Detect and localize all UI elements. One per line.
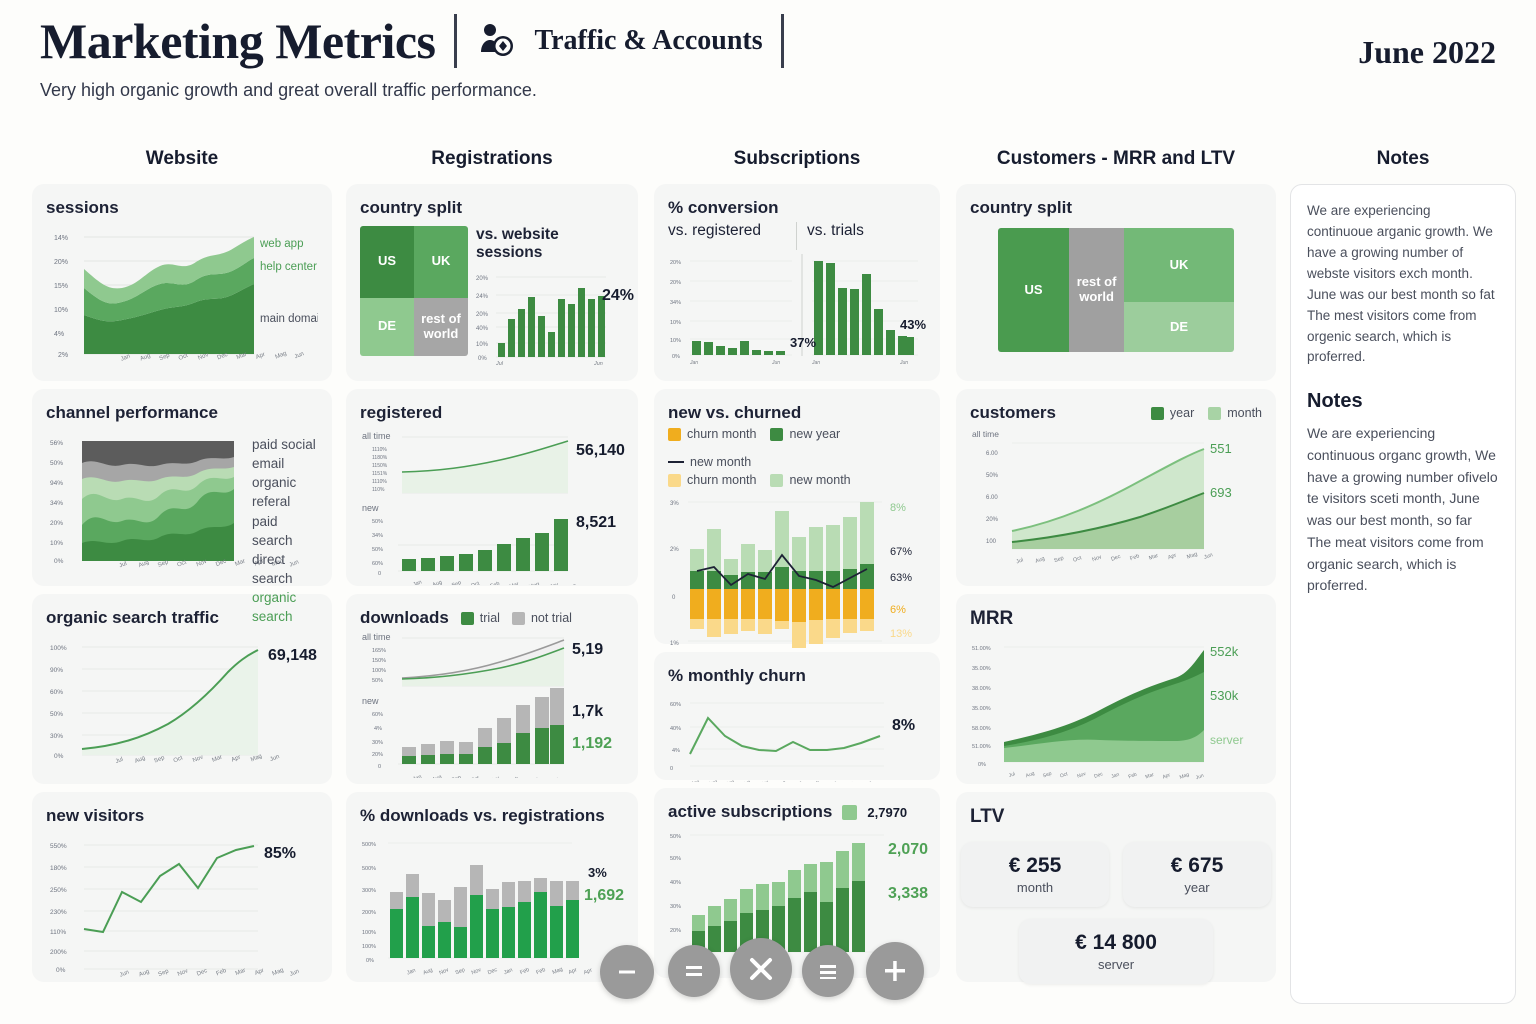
card-new-vs-churned: new vs. churned churn month new year new… bbox=[654, 389, 940, 644]
svg-text:50%: 50% bbox=[50, 460, 63, 467]
svg-text:Aug: Aug bbox=[1025, 770, 1036, 779]
channel-label-organic-search: organic search bbox=[252, 588, 318, 626]
svg-text:Nov: Nov bbox=[438, 967, 450, 976]
svg-text:300%: 300% bbox=[362, 888, 376, 894]
legend-swatch-new-year bbox=[770, 428, 783, 441]
treemap-cell-row: rest of world bbox=[1069, 228, 1124, 352]
svg-text:56%: 56% bbox=[50, 440, 63, 447]
toolbar-plus-button[interactable] bbox=[866, 942, 924, 1000]
legend-new-month-line: new month bbox=[668, 455, 751, 469]
legend-swatch-new-month bbox=[770, 474, 783, 487]
legend-trial: trial bbox=[461, 611, 500, 625]
toolbar-menu-button-1[interactable] bbox=[668, 945, 720, 997]
svg-text:1151%: 1151% bbox=[372, 471, 388, 477]
svg-text:Nov: Nov bbox=[1091, 554, 1102, 563]
card-sessions: sessions 14%20%15% 10%4%2% JanAugSep Oct… bbox=[32, 184, 332, 381]
svg-text:Jul: Jul bbox=[115, 757, 124, 765]
menu-icon bbox=[682, 959, 706, 983]
svg-text:Mag: Mag bbox=[1186, 551, 1198, 560]
svg-text:Mar: Mar bbox=[509, 581, 520, 585]
channel-label-email: email bbox=[252, 454, 318, 473]
card-title-pct-downloads: % downloads vs. registrations bbox=[360, 806, 624, 826]
svg-text:34%: 34% bbox=[372, 533, 383, 539]
svg-text:May: May bbox=[547, 776, 559, 778]
chart-mrr: 51.00%35.00%38.00% 35.00%58.00%51.00%0% … bbox=[970, 634, 1262, 780]
mrr-value-bottom: server bbox=[1210, 733, 1243, 747]
svg-text:1150%: 1150% bbox=[372, 463, 388, 469]
visitors-value: 85% bbox=[264, 845, 296, 863]
column-registrations: Registrations country split US UK DE res… bbox=[346, 148, 638, 982]
active-subs-dark-value: 3,338 bbox=[888, 885, 928, 903]
legend-new-year: new year bbox=[770, 427, 840, 441]
svg-text:Jan: Jan bbox=[689, 360, 698, 366]
svg-text:Nov: Nov bbox=[1076, 771, 1087, 780]
card-reg-country-split: country split US UK DE rest of world vs.… bbox=[346, 184, 638, 381]
active-subs-legend-value: 2,7970 bbox=[867, 805, 907, 820]
card-conversion: % conversion vs. registered vs. trials 2… bbox=[654, 184, 940, 381]
accounts-icon bbox=[475, 22, 517, 60]
svg-text:Jun: Jun bbox=[289, 969, 300, 978]
svg-text:50%: 50% bbox=[372, 547, 383, 553]
ltv-server-value: € 14 800 bbox=[1041, 931, 1191, 955]
legend-label-not-trial: not trial bbox=[531, 611, 572, 625]
svg-text:10%: 10% bbox=[476, 342, 489, 348]
channel-label-paid-social: paid social bbox=[252, 435, 318, 454]
treemap-cell-us: US bbox=[360, 226, 414, 298]
card-ltv: LTV € 255 month € 675 year € 14 800 serv… bbox=[956, 792, 1276, 982]
svg-text:Feb: Feb bbox=[535, 967, 546, 976]
nc-label-0: 8% bbox=[890, 502, 906, 514]
svg-text:Oct: Oct bbox=[470, 775, 481, 778]
svg-text:1110%: 1110% bbox=[372, 447, 387, 453]
section-divider bbox=[781, 14, 784, 68]
legend-swatch-churn-month-1 bbox=[668, 428, 681, 441]
svg-text:14%: 14% bbox=[54, 235, 68, 242]
card-channel-performance: channel performance 56%50%94% 34%20%10%0… bbox=[32, 389, 332, 586]
close-icon bbox=[746, 954, 776, 984]
ltv-month-label: month bbox=[983, 880, 1087, 895]
column-title-subscriptions: Subscriptions bbox=[654, 148, 940, 172]
svg-text:Jan: Jan bbox=[120, 353, 131, 362]
svg-text:20%: 20% bbox=[54, 259, 68, 266]
svg-text:550%: 550% bbox=[50, 843, 67, 850]
customers-value-month: 551 bbox=[1210, 441, 1232, 456]
svg-text:10%: 10% bbox=[670, 320, 681, 326]
svg-text:Aug: Aug bbox=[422, 967, 433, 976]
svg-text:Apr: Apr bbox=[845, 780, 855, 782]
column-title-customers: Customers - MRR and LTV bbox=[956, 148, 1276, 172]
svg-text:200%: 200% bbox=[362, 910, 376, 916]
svg-text:Jun: Jun bbox=[593, 361, 603, 366]
svg-text:0%: 0% bbox=[56, 967, 66, 974]
column-customers: Customers - MRR and LTV country split US… bbox=[956, 148, 1276, 982]
menu-icon bbox=[816, 959, 840, 983]
card-mrr: MRR 51.00%35.00%38.00% 35.00%58.00%51.00… bbox=[956, 594, 1276, 784]
toolbar-menu-button-2[interactable] bbox=[802, 945, 854, 997]
svg-text:500%: 500% bbox=[362, 842, 376, 848]
svg-text:94%: 94% bbox=[50, 480, 63, 487]
conversion-right-value: 43% bbox=[900, 317, 926, 332]
svg-text:30%: 30% bbox=[50, 733, 63, 740]
legend-not-trial: not trial bbox=[512, 611, 572, 625]
ltv-month-value: € 255 bbox=[983, 854, 1087, 878]
svg-text:10%: 10% bbox=[54, 307, 68, 314]
svg-text:Jan: Jan bbox=[691, 779, 701, 782]
nc-label-3: 6% bbox=[890, 604, 906, 616]
svg-text:Jun: Jun bbox=[1203, 552, 1213, 561]
toolbar-close-button[interactable] bbox=[730, 938, 792, 1000]
svg-text:20%: 20% bbox=[50, 520, 63, 527]
downloads-new-total: 1,7k bbox=[572, 703, 603, 721]
downloads-new-trial: 1,192 bbox=[572, 735, 612, 753]
new-churned-legend-row-2: churn month new month bbox=[668, 473, 926, 487]
svg-text:0%: 0% bbox=[54, 558, 64, 565]
svg-text:Jun: Jun bbox=[878, 781, 888, 782]
svg-text:250%: 250% bbox=[50, 887, 67, 894]
svg-text:0%: 0% bbox=[978, 762, 986, 768]
svg-text:0: 0 bbox=[378, 571, 381, 577]
svg-text:180%: 180% bbox=[50, 865, 67, 872]
card-title-new-churned: new vs. churned bbox=[668, 403, 926, 423]
svg-text:Mag: Mag bbox=[862, 780, 873, 782]
conversion-left-value: 37% bbox=[790, 335, 816, 350]
svg-text:May: May bbox=[547, 582, 559, 585]
legend-swatch-year bbox=[1151, 407, 1164, 420]
svg-text:34%: 34% bbox=[50, 500, 63, 507]
churn-value: 8% bbox=[892, 717, 915, 735]
svg-text:40%: 40% bbox=[670, 726, 681, 732]
column-notes: Notes We are experiencing continuoue arg… bbox=[1290, 148, 1516, 1004]
svg-text:100%: 100% bbox=[50, 645, 67, 652]
svg-text:35.00%: 35.00% bbox=[972, 666, 991, 672]
legend-swatch-churn-month-2 bbox=[668, 474, 681, 487]
svg-text:Jan: Jan bbox=[406, 968, 416, 977]
legend-label-new-month: new month bbox=[789, 473, 850, 487]
svg-text:20%: 20% bbox=[372, 752, 383, 758]
svg-text:0: 0 bbox=[670, 766, 673, 772]
channel-label-direct-search: direct search bbox=[252, 550, 318, 588]
svg-text:60%: 60% bbox=[50, 689, 63, 696]
svg-text:Apr: Apr bbox=[1162, 772, 1172, 780]
svg-text:0: 0 bbox=[672, 595, 676, 601]
notes-body-top: We are experiencing continuoue arganic g… bbox=[1307, 201, 1499, 368]
svg-text:20%: 20% bbox=[670, 928, 681, 934]
svg-text:230%: 230% bbox=[50, 909, 67, 916]
svg-text:Nov: Nov bbox=[489, 775, 500, 778]
card-pct-downloads: % downloads vs. registrations 500%500%30… bbox=[346, 792, 638, 982]
card-cust-country-split: country split US UK rest of world DE bbox=[956, 184, 1276, 381]
svg-text:0%: 0% bbox=[672, 354, 680, 360]
svg-text:Mar: Mar bbox=[234, 558, 246, 567]
chart-customers: all time 6.0050%6.00 20%100 JulAugSep Oc… bbox=[970, 423, 1262, 575]
svg-text:Aug: Aug bbox=[431, 774, 442, 778]
svg-text:Feb: Feb bbox=[810, 780, 820, 782]
legend-churn-month-1: churn month bbox=[668, 427, 756, 441]
svg-text:Oct: Oct bbox=[742, 779, 752, 782]
treemap-customers: US UK rest of world DE bbox=[998, 228, 1234, 352]
title-divider bbox=[454, 14, 457, 68]
conversion-sub-registered: vs. registered bbox=[668, 222, 786, 240]
svg-text:30%: 30% bbox=[372, 740, 383, 746]
chart-vs-website-sessions: 20%24%20% 40%10%0% bbox=[476, 266, 624, 366]
svg-text:Sep: Sep bbox=[451, 580, 462, 585]
svg-text:Jun: Jun bbox=[294, 351, 305, 360]
svg-text:Mag: Mag bbox=[1179, 772, 1190, 780]
svg-text:3%: 3% bbox=[670, 501, 679, 507]
svg-text:Jun: Jun bbox=[771, 360, 780, 366]
svg-text:Oct: Oct bbox=[1059, 771, 1069, 780]
legend-label-new-month-line: new month bbox=[690, 455, 751, 469]
svg-text:Jun: Jun bbox=[567, 583, 577, 585]
channel-label-organic-referal: organic referal bbox=[252, 473, 318, 511]
svg-text:0%: 0% bbox=[478, 356, 487, 362]
channel-legend: paid social email organic referal paid s… bbox=[252, 435, 318, 627]
toolbar-minus-button[interactable] bbox=[600, 945, 654, 999]
card-title-active-subs: active subscriptions bbox=[668, 802, 832, 822]
card-registered: registered all time 1110%1180%1150% 1151… bbox=[346, 389, 638, 586]
svg-text:Mag: Mag bbox=[528, 581, 540, 585]
svg-text:Nov: Nov bbox=[759, 779, 770, 782]
card-title-sessions: sessions bbox=[46, 198, 318, 218]
svg-text:Aug: Aug bbox=[432, 580, 443, 585]
svg-text:Dec: Dec bbox=[196, 968, 208, 978]
downloads-all-time-value: 5,19 bbox=[572, 641, 603, 659]
label-all-time: all time bbox=[362, 431, 391, 441]
new-churned-legend-row-1: churn month new year new month bbox=[668, 427, 926, 469]
card-title-customers: customers bbox=[970, 403, 1056, 423]
vs-sessions-value: 24% bbox=[602, 287, 634, 305]
pct-downloads-grey-value: 3% bbox=[588, 865, 607, 880]
svg-text:Feb: Feb bbox=[1129, 553, 1140, 562]
svg-text:Jan: Jan bbox=[811, 360, 820, 366]
card-title-visitors: new visitors bbox=[46, 806, 318, 826]
treemap-cell-de: DE bbox=[360, 298, 414, 357]
notes-panel: We are experiencing continuoue arganic g… bbox=[1290, 184, 1516, 1004]
svg-text:4%: 4% bbox=[374, 726, 382, 732]
column-title-website: Website bbox=[32, 148, 332, 172]
svg-text:200%: 200% bbox=[50, 949, 67, 956]
series-label-web-app: web app bbox=[259, 238, 303, 250]
chart-sessions: 14%20%15% 10%4%2% JanAugSep OctNovDec Ma… bbox=[46, 222, 318, 377]
svg-text:150%: 150% bbox=[372, 658, 386, 664]
svg-text:4%: 4% bbox=[672, 748, 680, 754]
svg-text:2%: 2% bbox=[58, 352, 68, 359]
svg-text:24%: 24% bbox=[476, 294, 489, 300]
series-label-help-center: help center bbox=[260, 261, 317, 273]
svg-text:Jan: Jan bbox=[503, 967, 513, 976]
page-subtitle: Very high organic growth and great overa… bbox=[40, 80, 1496, 101]
svg-text:Jun: Jun bbox=[269, 754, 280, 763]
pct-downloads-green-value: 1,692 bbox=[584, 887, 624, 905]
svg-text:Aug: Aug bbox=[708, 779, 719, 782]
svg-text:100%: 100% bbox=[362, 930, 376, 936]
svg-text:Jul: Jul bbox=[495, 361, 504, 366]
svg-text:20%: 20% bbox=[670, 280, 681, 286]
svg-text:20%: 20% bbox=[986, 517, 999, 523]
svg-text:Jan: Jan bbox=[793, 780, 803, 782]
svg-text:500%: 500% bbox=[362, 866, 376, 872]
conversion-sub-trials: vs. trials bbox=[807, 222, 864, 240]
svg-text:50%: 50% bbox=[670, 856, 681, 862]
treemap-registrations: US UK DE rest of world bbox=[360, 226, 468, 356]
card-title-downloads: downloads bbox=[360, 608, 449, 628]
report-date: June 2022 bbox=[1358, 34, 1496, 71]
svg-text:Dec: Dec bbox=[487, 967, 499, 976]
chart-conversion: 20%20%34% 10%10%0% bbox=[668, 250, 930, 370]
channel-label-paid-search: paid search bbox=[252, 512, 318, 550]
svg-text:Mag: Mag bbox=[552, 966, 564, 976]
svg-text:50%: 50% bbox=[372, 678, 383, 684]
treemap-cell-uk: UK bbox=[414, 226, 468, 298]
svg-text:50%: 50% bbox=[670, 834, 681, 840]
column-title-notes: Notes bbox=[1290, 148, 1516, 172]
svg-text:0%: 0% bbox=[54, 753, 64, 760]
svg-text:Mar: Mar bbox=[528, 776, 539, 778]
legend-churn-month-2: churn month bbox=[668, 473, 756, 487]
svg-text:Jun: Jun bbox=[899, 360, 908, 366]
treemap-cell-us: US bbox=[998, 228, 1069, 352]
chart-pct-downloads: 500%500%300% 200%100%100%0% JanAugNov bbox=[360, 830, 624, 980]
svg-text:Mag: Mag bbox=[272, 967, 285, 977]
svg-text:100: 100 bbox=[986, 539, 997, 545]
svg-text:30%: 30% bbox=[670, 904, 681, 910]
legend-swatch-trial bbox=[461, 612, 474, 625]
card-title-cust-country: country split bbox=[970, 198, 1262, 218]
treemap-cell-de: DE bbox=[1124, 302, 1234, 352]
legend-new-month: new month bbox=[770, 473, 850, 487]
svg-text:1110%: 1110% bbox=[372, 479, 387, 485]
ltv-card-server: € 14 800 server bbox=[1019, 919, 1213, 984]
legend-label-new-year: new year bbox=[789, 427, 840, 441]
ltv-server-label: server bbox=[1041, 957, 1191, 972]
card-title-conversion: % conversion bbox=[668, 198, 926, 218]
column-title-registrations: Registrations bbox=[346, 148, 638, 172]
svg-text:165%: 165% bbox=[372, 648, 386, 654]
svg-text:Oct: Oct bbox=[173, 755, 184, 764]
svg-text:Nov: Nov bbox=[471, 967, 483, 976]
svg-text:Jul: Jul bbox=[119, 561, 128, 569]
page-title: Marketing Metrics bbox=[40, 16, 436, 66]
svg-text:Sep: Sep bbox=[1042, 771, 1053, 780]
svg-text:40%: 40% bbox=[670, 880, 681, 886]
svg-text:Sep: Sep bbox=[451, 775, 462, 778]
svg-text:Feb: Feb bbox=[1128, 772, 1138, 780]
svg-text:20%: 20% bbox=[670, 260, 681, 266]
ltv-card-year: € 675 year bbox=[1123, 842, 1271, 907]
svg-text:15%: 15% bbox=[54, 283, 68, 290]
customers-value-year: 693 bbox=[1210, 485, 1232, 500]
label-new: new bbox=[362, 503, 379, 513]
svg-text:all time: all time bbox=[972, 429, 999, 439]
svg-text:1%: 1% bbox=[670, 641, 679, 647]
svg-text:Aug: Aug bbox=[138, 969, 150, 979]
chart-monthly-churn: 60%40%4%0 JanAugSep OctNovDec JanFebMar … bbox=[668, 690, 930, 782]
svg-text:Oct: Oct bbox=[1072, 555, 1083, 564]
svg-text:60%: 60% bbox=[372, 712, 383, 718]
ltv-year-value: € 675 bbox=[1145, 854, 1249, 878]
svg-text:Sep: Sep bbox=[455, 967, 466, 976]
svg-text:90%: 90% bbox=[50, 667, 63, 674]
notes-heading-second: Notes bbox=[1307, 390, 1499, 413]
legend-label-churn-month-2: churn month bbox=[687, 473, 756, 487]
svg-text:100%: 100% bbox=[362, 944, 376, 950]
svg-text:Mar: Mar bbox=[211, 754, 223, 763]
card-title-churn: % monthly churn bbox=[668, 666, 926, 686]
card-title-vs-sessions: vs. website sessions bbox=[476, 226, 624, 262]
notes-body-second: We are experiencing continuous organc gr… bbox=[1307, 423, 1499, 597]
registered-new-value: 8,521 bbox=[576, 514, 616, 532]
svg-text:40%: 40% bbox=[476, 326, 489, 332]
svg-text:6.00: 6.00 bbox=[986, 495, 998, 501]
svg-text:34%: 34% bbox=[670, 300, 681, 306]
ltv-kpi-row-2: € 14 800 server bbox=[970, 919, 1262, 984]
svg-text:Jan: Jan bbox=[1110, 772, 1120, 780]
svg-text:Apr: Apr bbox=[231, 755, 242, 764]
column-subscriptions: Subscriptions % conversion vs. registere… bbox=[654, 148, 940, 978]
legend-line-new-month bbox=[668, 461, 684, 463]
svg-text:Mag: Mag bbox=[274, 351, 287, 361]
svg-text:Aug: Aug bbox=[134, 755, 146, 765]
svg-text:Feb: Feb bbox=[519, 967, 530, 976]
svg-text:Jul: Jul bbox=[1015, 557, 1024, 565]
card-title-registered: registered bbox=[360, 403, 624, 423]
card-new-visitors: new visitors 550%180%250% 230%110%200%0%… bbox=[32, 792, 332, 982]
svg-text:Jan: Jan bbox=[412, 579, 422, 585]
svg-text:Jun: Jun bbox=[119, 969, 130, 978]
card-customers-chart: customers year month all time 6.0050%6.0… bbox=[956, 389, 1276, 586]
active-subs-light-value: 2,070 bbox=[888, 841, 928, 859]
svg-text:Sep: Sep bbox=[725, 779, 736, 782]
svg-text:4%: 4% bbox=[54, 331, 64, 338]
svg-text:51.00%: 51.00% bbox=[972, 744, 991, 750]
svg-text:110%: 110% bbox=[372, 487, 385, 493]
plus-icon bbox=[881, 957, 909, 985]
svg-text:Dec: Dec bbox=[776, 779, 787, 782]
svg-text:Apr: Apr bbox=[568, 967, 578, 976]
svg-text:20%: 20% bbox=[476, 276, 489, 282]
treemap-cell-row: rest of world bbox=[414, 298, 468, 357]
card-title-mrr: MRR bbox=[970, 608, 1262, 630]
svg-text:60%: 60% bbox=[372, 561, 383, 567]
conversion-divider bbox=[796, 222, 797, 250]
page-header: Marketing Metrics Traffic & Accounts Ver… bbox=[40, 14, 1496, 124]
svg-text:50%: 50% bbox=[50, 711, 63, 718]
svg-text:35.00%: 35.00% bbox=[972, 706, 991, 712]
legend-swatch-month bbox=[1208, 407, 1221, 420]
svg-text:2%: 2% bbox=[670, 547, 679, 553]
svg-text:50%: 50% bbox=[372, 519, 383, 525]
svg-text:10%: 10% bbox=[670, 338, 681, 344]
svg-text:20%: 20% bbox=[476, 312, 489, 318]
registered-all-time-value: 56,140 bbox=[576, 442, 625, 460]
svg-text:Dec: Dec bbox=[1110, 554, 1121, 563]
svg-text:Mar: Mar bbox=[1148, 553, 1159, 562]
ltv-card-month: € 255 month bbox=[961, 842, 1109, 907]
svg-text:38.00%: 38.00% bbox=[972, 686, 991, 692]
svg-text:110%: 110% bbox=[50, 929, 66, 936]
card-monthly-churn: % monthly churn 60%40%4%0 JanAugSep OctN… bbox=[654, 652, 940, 780]
legend-label-churn-month-1: churn month bbox=[687, 427, 756, 441]
svg-text:Jun: Jun bbox=[1195, 773, 1205, 780]
svg-text:Apr: Apr bbox=[255, 352, 266, 361]
card-title-reg-country: country split bbox=[360, 198, 624, 218]
minus-icon bbox=[614, 959, 640, 985]
card-downloads: downloads trial not trial all time 165%1… bbox=[346, 594, 638, 784]
svg-text:60%: 60% bbox=[670, 702, 681, 708]
chart-new-vs-churned: 3%2%01% bbox=[668, 489, 930, 657]
card-title-ltv: LTV bbox=[970, 806, 1262, 828]
svg-text:Feb: Feb bbox=[490, 581, 501, 585]
